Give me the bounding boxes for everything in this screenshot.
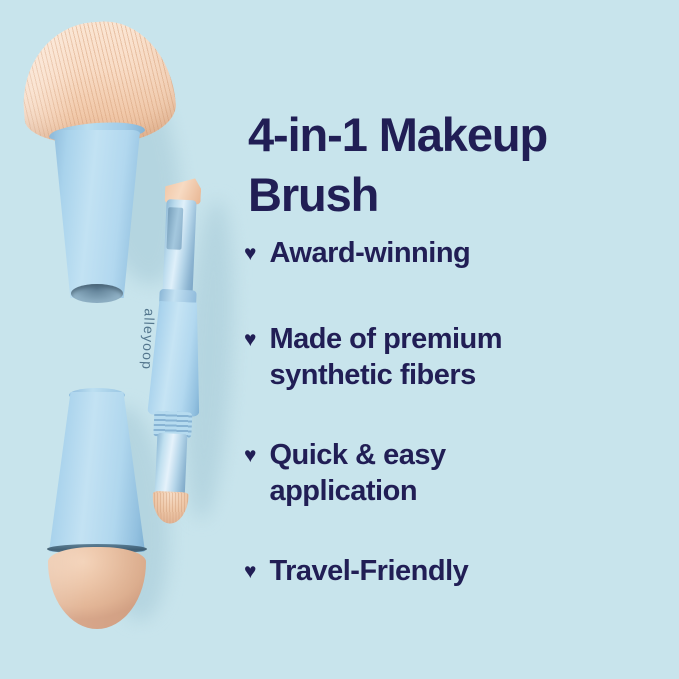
dual-brush-upper-barrel-notch xyxy=(166,207,183,250)
page-title: 4-in-1 Makeup Brush xyxy=(248,105,658,223)
list-item: ♥ Award-winning xyxy=(244,236,470,272)
heart-icon: ♥ xyxy=(244,561,256,582)
list-item: ♥ Quick & easy application xyxy=(244,438,599,510)
rounded-blender-brush-tip-icon xyxy=(152,491,189,525)
heart-icon: ♥ xyxy=(244,243,256,264)
product-marketing-image: alleyoop 4-in-1 Makeup Brush ♥ Award-win… xyxy=(0,0,679,679)
dual-brush-lower-barrel xyxy=(155,433,188,500)
product-image-area: alleyoop xyxy=(0,0,240,679)
feature-label: Travel-Friendly xyxy=(269,554,468,590)
feature-label: Quick & easy application xyxy=(269,438,599,510)
list-item: ♥ Travel-Friendly xyxy=(244,554,468,590)
powder-brush-ferrule xyxy=(51,130,143,298)
list-item: ♥ Made of premium synthetic fibers xyxy=(244,322,599,394)
heart-icon: ♥ xyxy=(244,445,256,466)
sponge-cap-body xyxy=(48,392,146,552)
dual-ended-brush: alleyoop xyxy=(140,177,227,528)
feature-label: Made of premium synthetic fibers xyxy=(269,322,599,394)
sponge-applicator-tip-icon xyxy=(48,547,146,629)
powder-brush-hollow-opening xyxy=(71,284,123,303)
marketing-copy-area: 4-in-1 Makeup Brush ♥ Award-winning ♥ Ma… xyxy=(244,0,664,679)
feature-label: Award-winning xyxy=(269,236,470,272)
heart-icon: ♥ xyxy=(244,329,256,350)
